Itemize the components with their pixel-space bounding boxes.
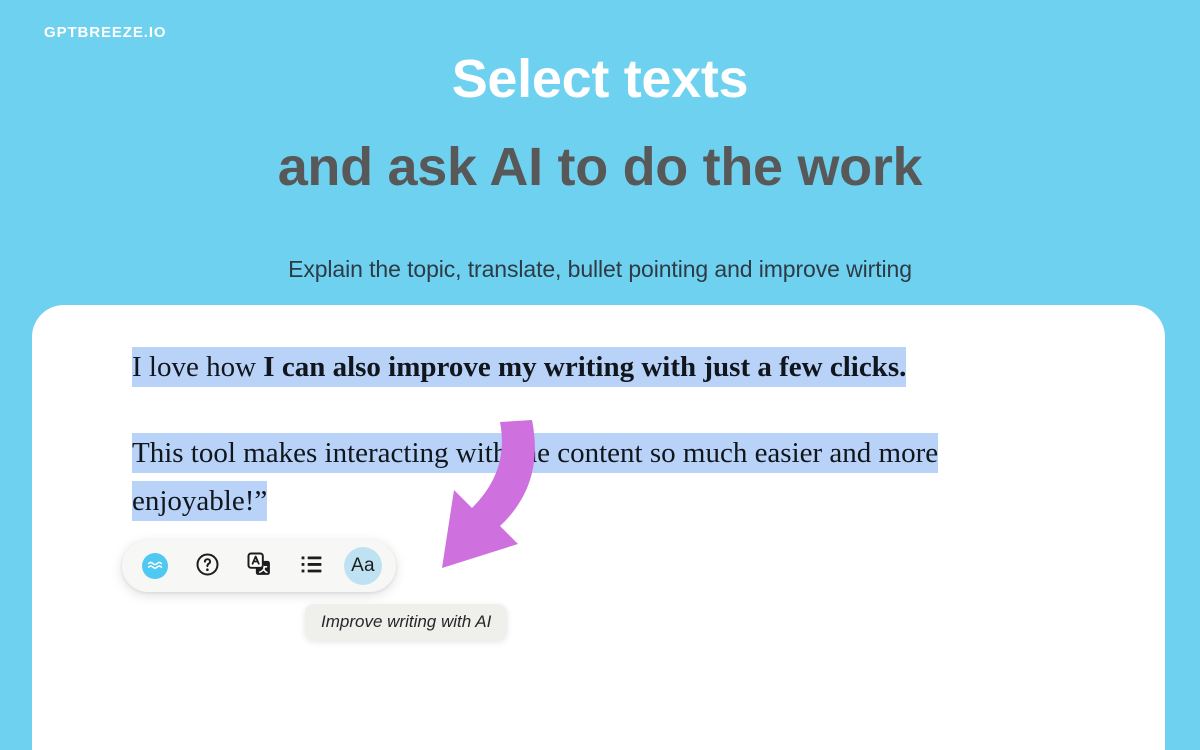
question-mark-circle-icon [195, 552, 220, 580]
page-subtitle: Explain the topic, translate, bullet poi… [0, 256, 1200, 283]
translate-icon [246, 551, 273, 581]
paragraph-1-segment-2: I can also improve my writing with just … [263, 351, 906, 383]
document-text: I love how I can also improve my writing… [132, 343, 1072, 525]
paragraph-2[interactable]: This tool makes interacting with the con… [132, 429, 1072, 525]
text-size-icon: Aa [351, 555, 375, 577]
toolbar-button-translate[interactable] [240, 547, 278, 585]
tooltip-improve-writing: Improve writing with AI [305, 604, 507, 640]
page-title: Select texts and ask AI to do the work [0, 46, 1200, 200]
toolbar-button-improve-writing[interactable]: Aa [344, 547, 382, 585]
toolbar-button-explain[interactable] [188, 547, 226, 585]
brand-logo: GPTBREEZE.IO [44, 24, 166, 41]
breeze-waves-icon [142, 553, 168, 579]
bullet-list-icon [299, 552, 324, 580]
headline-line-2: and ask AI to do the work [0, 134, 1200, 200]
paragraph-1-selected-text: I love how I can also improve my writing… [132, 347, 906, 387]
headline-line-1: Select texts [0, 46, 1200, 112]
paragraph-1[interactable]: I love how I can also improve my writing… [132, 343, 1072, 391]
content-card: I love how I can also improve my writing… [32, 305, 1165, 750]
paragraph-1-segment-1: I love how [132, 351, 263, 383]
selection-toolbar: Aa [122, 540, 396, 592]
toolbar-button-breeze-logo[interactable] [136, 547, 174, 585]
paragraph-2-selected-text: This tool makes interacting with the con… [132, 433, 938, 521]
toolbar-button-bullet-points[interactable] [292, 547, 330, 585]
